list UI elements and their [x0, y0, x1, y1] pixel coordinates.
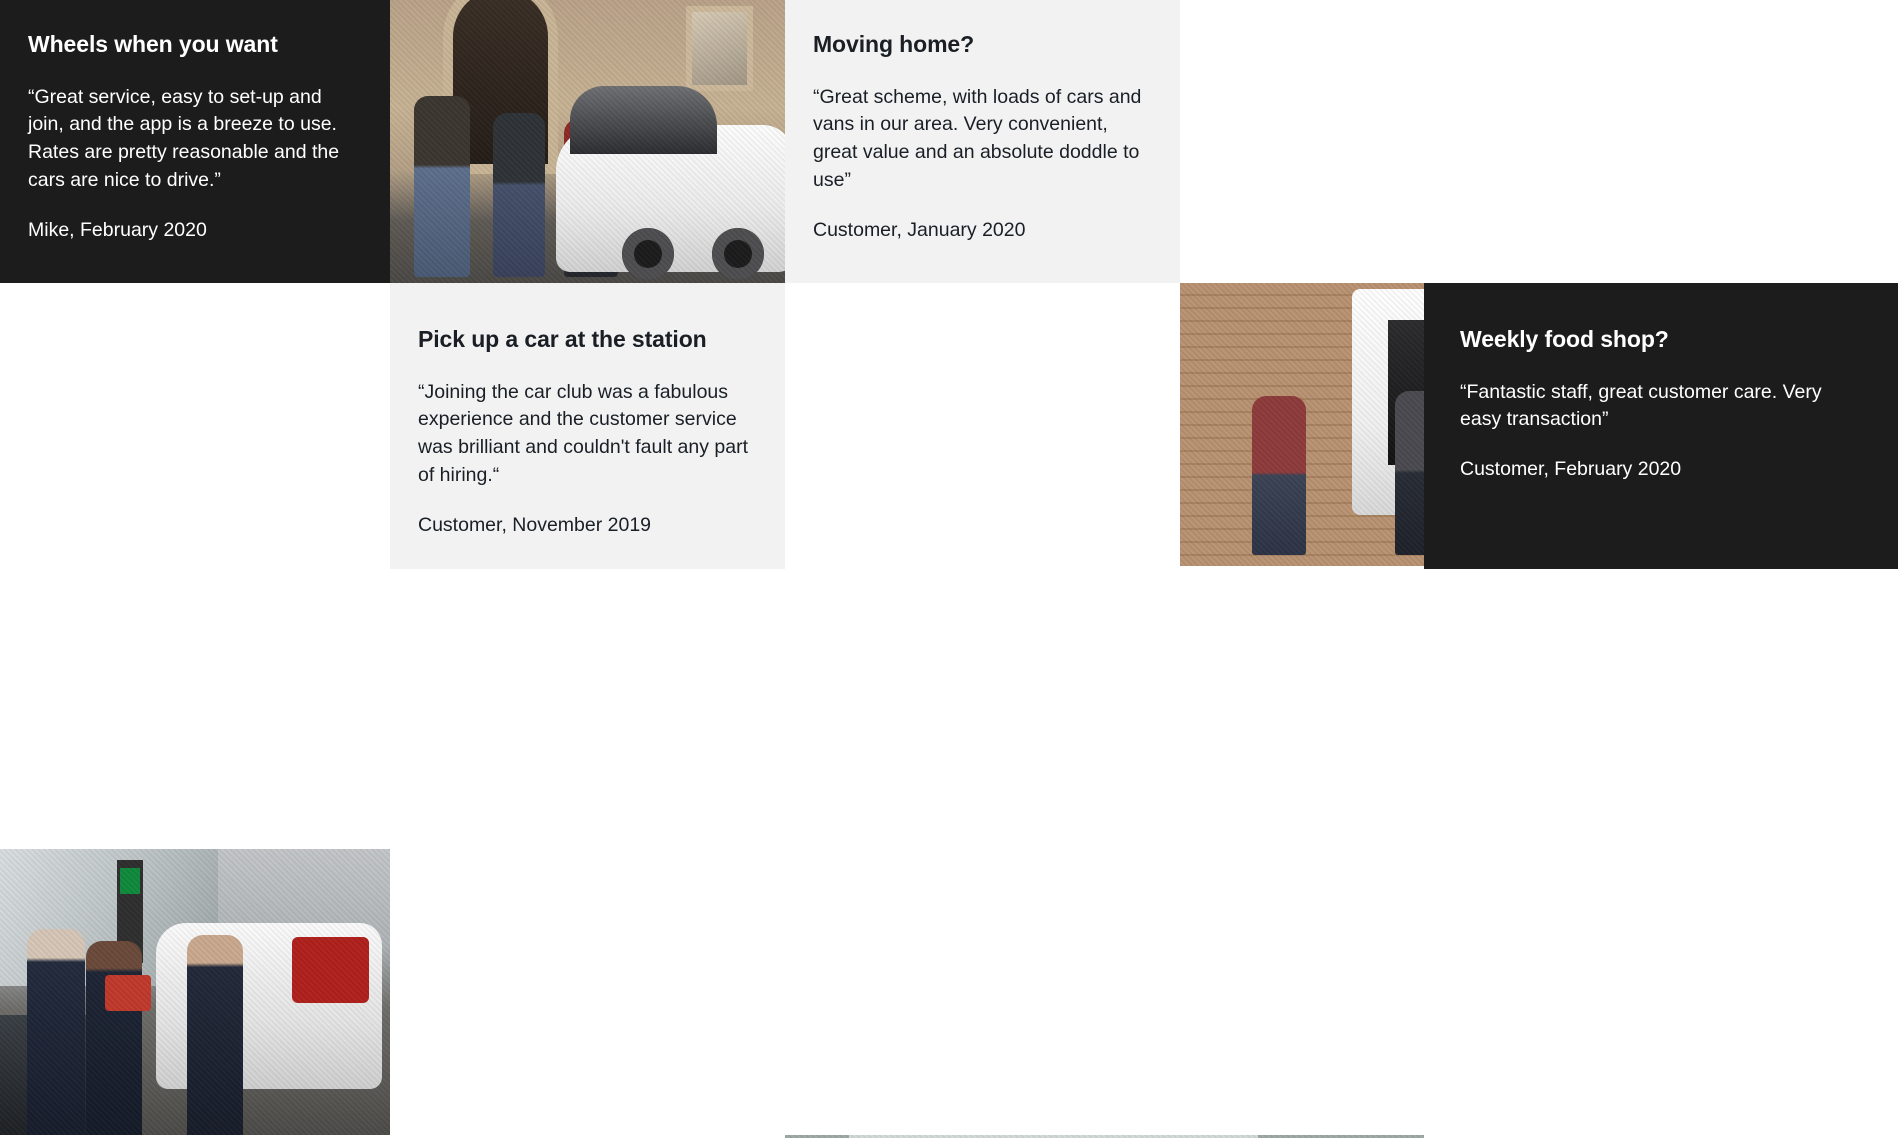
testimonial-card-moving-home[interactable]: Moving home? “Great scheme, with loads o… — [785, 0, 1180, 283]
card-attribution: Customer, November 2019 — [418, 512, 751, 540]
card-attribution: Customer, January 2020 — [813, 217, 1146, 245]
card-attribution: Customer, February 2020 — [1460, 456, 1858, 484]
photo-townhouse-hatchback — [390, 0, 785, 283]
card-quote: “Great service, easy to set-up and join,… — [28, 84, 356, 195]
photo-station-handshake — [0, 849, 390, 1135]
card-heading: Weekly food shop? — [1460, 325, 1858, 354]
photo-grain — [785, 1135, 1424, 1138]
testimonial-card-weekly-food-shop[interactable]: Weekly food shop? “Fantastic staff, grea… — [1424, 283, 1898, 569]
testimonial-card-pick-up-a-car-at-the-station[interactable]: Pick up a car at the station “Joining th… — [390, 283, 785, 569]
card-quote: “Great scheme, with loads of cars and va… — [813, 84, 1146, 195]
card-heading: Wheels when you want — [28, 30, 356, 59]
photo-food-shop — [785, 1135, 1424, 1138]
card-heading: Pick up a car at the station — [418, 325, 751, 354]
testimonial-card-wheels-when-you-want[interactable]: Wheels when you want “Great service, eas… — [0, 0, 390, 283]
card-heading: Moving home? — [813, 30, 1146, 59]
testimonial-grid: Wheels when you want “Great service, eas… — [0, 0, 1898, 569]
card-quote: “Fantastic staff, great customer care. V… — [1460, 379, 1858, 434]
card-attribution: Mike, February 2020 — [28, 217, 356, 245]
card-quote: “Joining the car club was a fabulous exp… — [418, 379, 751, 490]
photo-grain — [390, 0, 785, 283]
photo-grain — [0, 849, 390, 1135]
